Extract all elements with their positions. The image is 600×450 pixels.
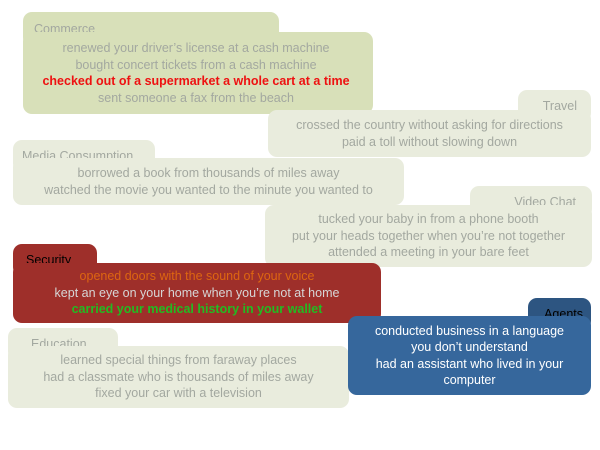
capability-line: learned special things from faraway plac… <box>19 352 338 369</box>
capability-line-highlight: carried your medical history in your wal… <box>24 301 370 318</box>
capability-line-highlight: checked out of a supermarket a whole car… <box>33 73 359 90</box>
capability-line: conducted business in a language <box>358 323 581 340</box>
capability-line: borrowed a book from thousands of miles … <box>23 165 394 182</box>
capability-line: you don’t understand <box>358 339 581 356</box>
capability-line: renewed your driver’s license at a cash … <box>33 40 359 57</box>
capability-line: computer <box>358 372 581 389</box>
category-body-video-chat: tucked your baby in from a phone booth p… <box>265 205 592 267</box>
capability-line: bought concert tickets from a cash machi… <box>33 57 359 74</box>
capability-line: attended a meeting in your bare feet <box>276 244 581 261</box>
capability-line-highlight: opened doors with the sound of your voic… <box>24 268 370 285</box>
capability-line: put your heads together when you’re not … <box>276 228 581 245</box>
category-body-agents: conducted business in a language you don… <box>348 316 591 395</box>
capability-line: watched the movie you wanted to the minu… <box>23 182 394 199</box>
category-body-travel: crossed the country without asking for d… <box>268 110 591 157</box>
category-body-commerce: renewed your driver’s license at a cash … <box>23 32 373 114</box>
capability-line: sent someone a fax from the beach <box>33 90 359 107</box>
capability-line: had an assistant who lived in your <box>358 356 581 373</box>
capability-line: crossed the country without asking for d… <box>279 117 580 134</box>
category-body-education: learned special things from faraway plac… <box>8 346 349 408</box>
poster-canvas: Commerce renewed your driver’s license a… <box>0 0 600 450</box>
capability-line: kept an eye on your home when you’re not… <box>24 285 370 302</box>
category-body-security: opened doors with the sound of your voic… <box>13 263 381 323</box>
capability-line: fixed your car with a television <box>19 385 338 402</box>
capability-line: paid a toll without slowing down <box>279 134 580 151</box>
capability-line: tucked your baby in from a phone booth <box>276 211 581 228</box>
category-body-media-consumption: borrowed a book from thousands of miles … <box>13 158 404 205</box>
capability-line: had a classmate who is thousands of mile… <box>19 369 338 386</box>
